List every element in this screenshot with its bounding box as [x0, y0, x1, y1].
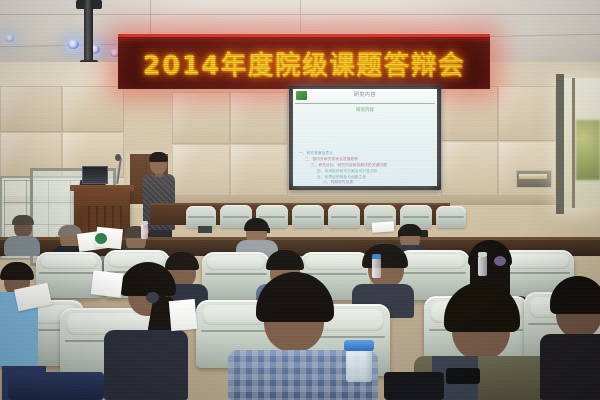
- handout-papers: [169, 299, 198, 331]
- water-bottle: [372, 258, 381, 278]
- front-row-seat: [292, 205, 324, 228]
- slide-body-line: 六、预期研究成果: [323, 180, 353, 185]
- led-banner-text: 2014年度院级课题答辩会: [124, 45, 485, 82]
- conference-photo: 2014年度院级课题答辩会 研究内容 研究内容 一、研究背景及意义 二、国内外研…: [0, 0, 600, 400]
- window-mullion: [572, 78, 575, 208]
- desk-equipment: [198, 226, 212, 233]
- water-bottle-cap: [372, 254, 381, 259]
- water-bottle: [478, 256, 487, 276]
- front-row-seat: [186, 206, 216, 228]
- attendee-bag: [8, 372, 104, 400]
- marble-panel: [172, 92, 230, 144]
- slide-subtitle: 研究内容: [293, 107, 437, 113]
- led-banner: 2014年度院级课题答辩会: [118, 34, 490, 89]
- seat-seam: [39, 272, 98, 274]
- handout-papers: [372, 221, 395, 233]
- window-foliage: [576, 120, 600, 180]
- marble-panel: [498, 86, 556, 141]
- marble-panel: [230, 144, 288, 196]
- marble-panel: [62, 86, 124, 132]
- marble-panel: [172, 144, 230, 196]
- projector-mount-pole: [84, 0, 93, 64]
- front-row-seat: [328, 205, 360, 228]
- slide-body-line: 一、研究背景及意义: [299, 151, 333, 156]
- slide-body-line: 四、拟采取的研究方案及可行性分析: [317, 169, 378, 174]
- camera-bag: [384, 372, 444, 400]
- slide-body-line: 二、国内外研究现状及发展趋势: [305, 157, 358, 162]
- attendee-torso: [104, 330, 188, 400]
- front-row-seat: [436, 206, 466, 228]
- seat-seam: [205, 273, 266, 275]
- marble-panel: [441, 86, 498, 141]
- seat-headrest: [402, 254, 465, 269]
- water-bottle: [346, 348, 372, 382]
- seat-headrest: [504, 254, 569, 269]
- attendee-cap: [95, 233, 107, 244]
- marble-panel: [230, 92, 288, 144]
- attendee-hair: [244, 218, 269, 231]
- seat-headrest: [304, 255, 366, 269]
- presenter-hair: [149, 152, 168, 162]
- seat-seam: [304, 273, 367, 275]
- attendee-hair-tie: [494, 256, 506, 266]
- handout-papers: [91, 270, 124, 297]
- wall-vent-icon: [516, 170, 552, 188]
- attendee-hair-tie: [146, 292, 159, 303]
- seat-seam: [402, 272, 467, 274]
- slide-title: 研究内容: [293, 91, 437, 98]
- attendee-hair: [398, 224, 422, 236]
- water-bottle-cap: [141, 221, 148, 225]
- attendee-torso: [4, 236, 40, 256]
- ceiling-spotlight-icon: [68, 40, 79, 49]
- wall-vent-slit: [519, 174, 547, 179]
- laptop-icon: [82, 166, 108, 184]
- ceiling-spotlight-icon: [6, 35, 14, 42]
- projection-screen: 研究内容 研究内容 一、研究背景及意义 二、国内外研究现状及发展趋势 三、研究目…: [293, 89, 437, 186]
- seat-seam: [504, 272, 571, 274]
- attendee-hair: [12, 215, 34, 225]
- seat-headrest: [40, 255, 98, 269]
- marble-panel: [441, 141, 498, 196]
- camera-bag: [446, 368, 480, 384]
- water-bottle-cap: [344, 340, 374, 351]
- seat-headrest: [206, 255, 266, 269]
- marble-panel: [0, 86, 62, 132]
- water-bottle: [141, 224, 148, 239]
- microphone-icon: [115, 154, 121, 161]
- slide-divider: [295, 103, 435, 104]
- attendee-torso: [540, 334, 600, 400]
- slide-body-line: 三、研究目标、研究内容和拟解决的关键问题: [311, 163, 387, 168]
- water-bottle-cap: [478, 252, 487, 257]
- window-frame: [556, 74, 564, 214]
